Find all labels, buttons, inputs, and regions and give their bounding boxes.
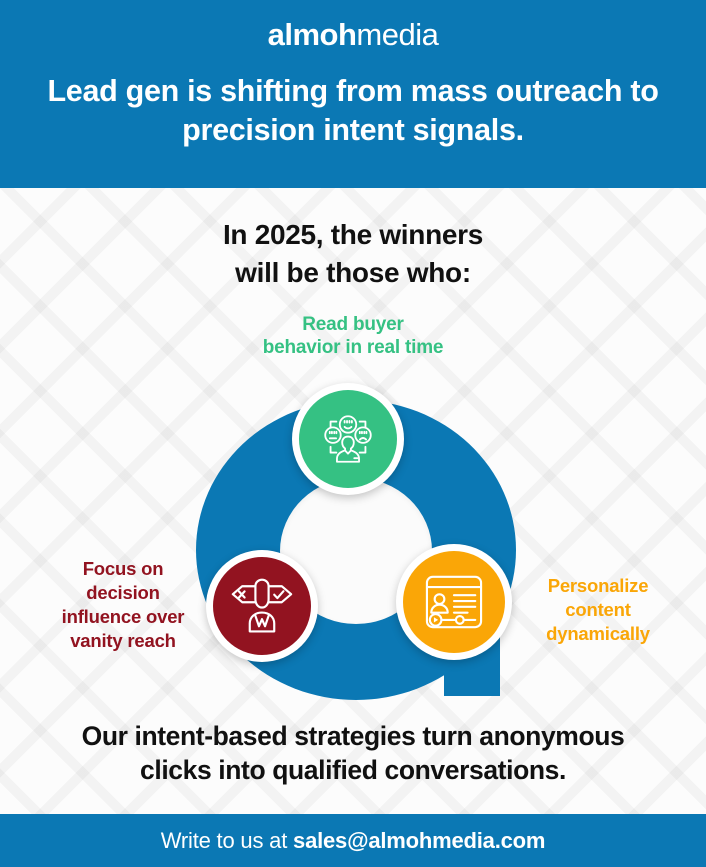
- subheading: In 2025, the winners will be those who:: [0, 216, 706, 292]
- logo-bold-part: almoh: [268, 17, 357, 52]
- node-label-line-1: Read buyer: [0, 314, 706, 337]
- header-banner: almohmedia Lead gen is shifting from mas…: [0, 0, 706, 188]
- contact-email[interactable]: sales@almohmedia.com: [293, 828, 545, 853]
- logo-light-part: media: [356, 17, 438, 52]
- node-label-line-2: decision: [18, 581, 228, 605]
- node-color-disc: [403, 551, 505, 653]
- node-label-personalize-content: Personalize content dynamically: [498, 574, 698, 646]
- node-label-line-3: influence over: [18, 605, 228, 629]
- closing-statement: Our intent-based strategies turn anonymo…: [0, 719, 706, 788]
- node-label-line-1: Personalize: [498, 574, 698, 598]
- node-label-line-4: vanity reach: [18, 629, 228, 653]
- node-label-decision-influence: Focus on decision influence over vanity …: [18, 557, 228, 653]
- headline-text: Lead gen is shifting from mass outreach …: [33, 72, 673, 150]
- diagram-node-personalize-content: [396, 544, 512, 660]
- footer-bar: Write to us at sales@almohmedia.com: [0, 814, 706, 867]
- node-label-read-buyer-behavior: Read buyer behavior in real time: [0, 314, 706, 360]
- sentiment-faces-icon: [317, 408, 379, 470]
- media-content-card-icon: [423, 573, 485, 631]
- decision-choice-icon: [230, 577, 294, 635]
- closing-line-2: clicks into qualified conversations.: [0, 753, 706, 787]
- contact-line: Write to us at sales@almohmedia.com: [161, 828, 546, 854]
- subheading-line-1: In 2025, the winners: [0, 216, 706, 254]
- closing-line-1: Our intent-based strategies turn anonymo…: [0, 719, 706, 753]
- diagram-node-read-buyer-behavior: [292, 383, 404, 495]
- contact-prefix: Write to us at: [161, 828, 293, 853]
- infographic-poster: almohmedia Lead gen is shifting from mas…: [0, 0, 706, 867]
- brand-logo: almohmedia: [268, 19, 439, 50]
- node-label-line-3: dynamically: [498, 622, 698, 646]
- node-label-line-1: Focus on: [18, 557, 228, 581]
- node-label-line-2: content: [498, 598, 698, 622]
- node-label-line-2: behavior in real time: [0, 337, 706, 360]
- node-color-disc: [299, 390, 397, 488]
- subheading-line-2: will be those who:: [0, 254, 706, 292]
